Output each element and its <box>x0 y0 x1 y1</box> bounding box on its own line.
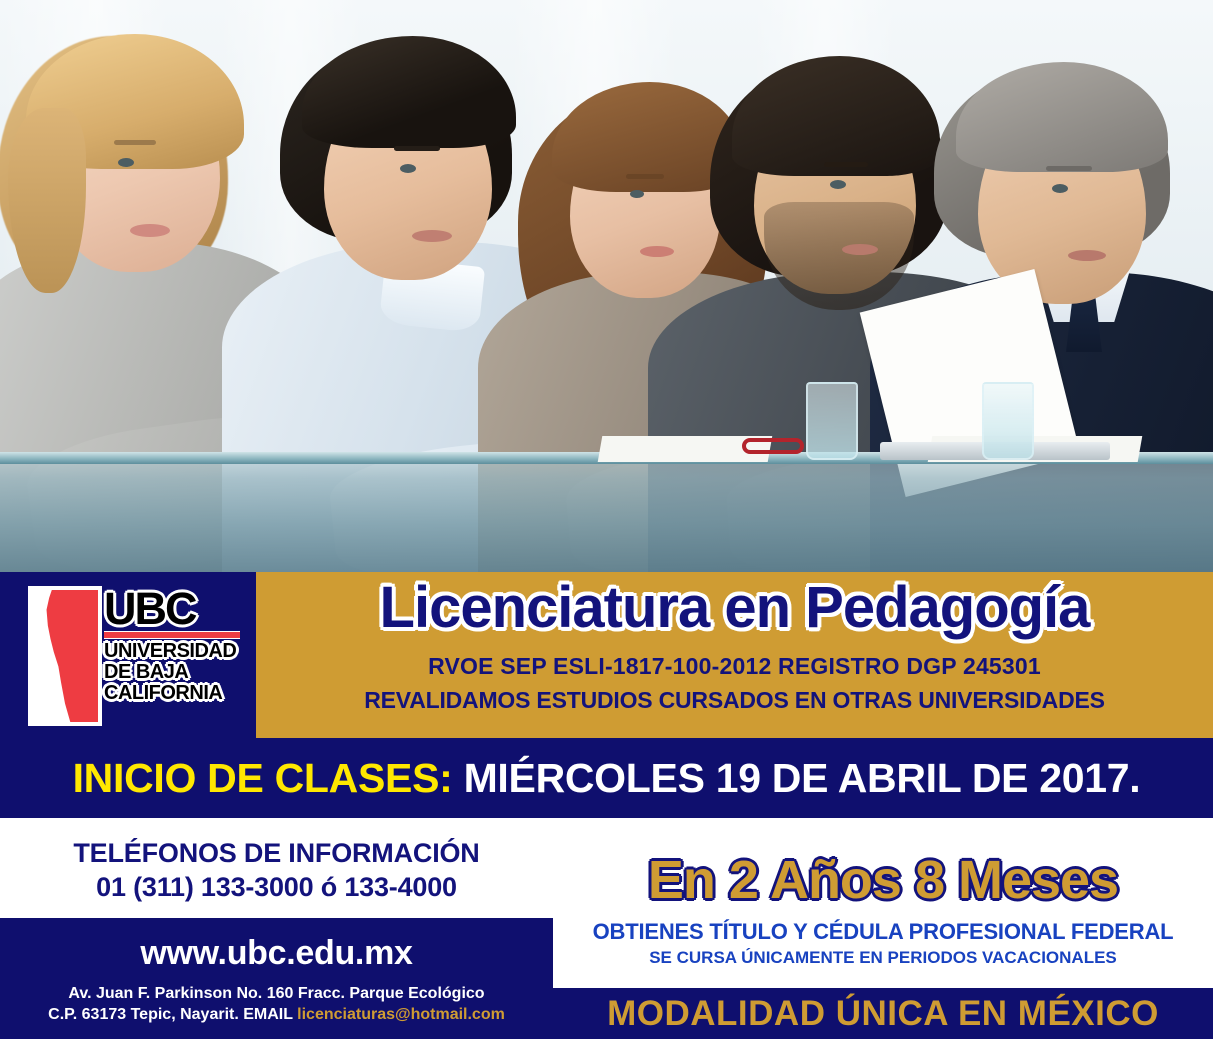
duration-subtitle-2: SE CURSA ÚNICAMENTE EN PERIODOS VACACION… <box>649 948 1117 968</box>
duration-subtitle-1: OBTIENES TÍTULO Y CÉDULA PROFESIONAL FED… <box>593 919 1174 945</box>
logo-acronym: UBC <box>100 586 250 631</box>
main-banner: UBC UNIVERSIDAD DE BAJA CALIFORNIA Licen… <box>0 572 1213 738</box>
water-glass <box>806 382 858 460</box>
program-title: Licenciatura en Pedagogía <box>380 578 1090 639</box>
modality-text: MODALIDAD ÚNICA EN MÉXICO <box>607 994 1159 1034</box>
address-line-2: C.P. 63173 Tepic, Nayarit. EMAIL licenci… <box>48 1006 505 1024</box>
website-url[interactable]: www.ubc.edu.mx <box>140 934 412 973</box>
email-address[interactable]: licenciaturas@hotmail.com <box>297 1006 505 1023</box>
lips <box>842 244 878 255</box>
start-date-text: INICIO DE CLASES: MIÉRCOLES 19 DE ABRIL … <box>73 755 1141 802</box>
glass-desk <box>0 452 1213 572</box>
start-date-value: MIÉRCOLES 19 DE ABRIL DE 2017. <box>464 755 1141 801</box>
lips <box>130 224 170 237</box>
phones-block: TELÉFONOS DE INFORMACIÓN 01 (311) 133-30… <box>0 822 553 918</box>
address-line-2-prefix: C.P. 63173 Tepic, Nayarit. EMAIL <box>48 1006 297 1023</box>
eye <box>630 190 644 198</box>
logo-line-2: DE BAJA <box>100 662 250 682</box>
eyebrow <box>824 162 868 167</box>
start-date-bar: INICIO DE CLASES: MIÉRCOLES 19 DE ABRIL … <box>0 738 1213 818</box>
eye <box>118 158 134 167</box>
logo-line-3: CALIFORNIA <box>100 683 250 703</box>
hair-front <box>302 36 516 148</box>
duration-block: En 2 Años 8 Meses OBTIENES TÍTULO Y CÉDU… <box>553 822 1213 988</box>
hero-photo <box>0 0 1213 572</box>
baja-california-map-icon <box>28 586 102 726</box>
address-line-1: Av. Juan F. Parkinson No. 160 Fracc. Par… <box>68 985 484 1003</box>
water-glass <box>982 382 1034 460</box>
eyeglasses <box>742 438 804 454</box>
ubc-logo[interactable]: UBC UNIVERSIDAD DE BAJA CALIFORNIA <box>28 586 246 726</box>
eye <box>400 164 416 173</box>
website-block: www.ubc.edu.mx Av. Juan F. Parkinson No.… <box>0 918 553 1039</box>
duration-headline: En 2 Años 8 Meses <box>648 849 1118 911</box>
hair-side <box>8 108 86 293</box>
revalidation-line: REVALIDAMOS ESTUDIOS CURSADOS EN OTRAS U… <box>364 687 1105 714</box>
banner-text: Licenciatura en Pedagogía RVOE SEP ESLI-… <box>256 572 1213 738</box>
hair-front <box>732 56 940 176</box>
eyebrow <box>626 174 664 179</box>
lips <box>640 246 674 257</box>
eye <box>1052 184 1068 193</box>
eyebrow <box>1046 166 1092 171</box>
eyebrow <box>114 140 156 145</box>
eye <box>830 180 846 189</box>
lips <box>412 230 452 242</box>
eyebrow <box>394 146 440 151</box>
start-date-label: INICIO DE CLASES: <box>73 755 453 801</box>
logo-line-1: UNIVERSIDAD <box>100 641 250 661</box>
modality-bar: MODALIDAD ÚNICA EN MÉXICO <box>553 988 1213 1039</box>
phones-numbers[interactable]: 01 (311) 133-3000 ó 133-4000 <box>96 872 457 903</box>
hair-front <box>956 62 1168 172</box>
logo-wordmark: UBC UNIVERSIDAD DE BAJA CALIFORNIA <box>100 586 250 726</box>
lips <box>1068 250 1106 261</box>
rvoe-registration-line: RVOE SEP ESLI-1817-100-2012 REGISTRO DGP… <box>428 653 1041 680</box>
phones-title: TELÉFONOS DE INFORMACIÓN <box>73 838 479 869</box>
